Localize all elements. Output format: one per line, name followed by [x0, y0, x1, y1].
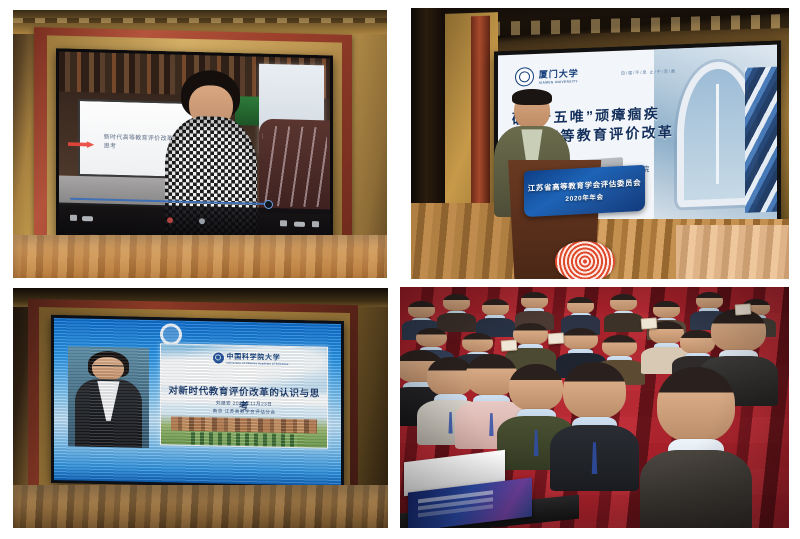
- audience-member: [482, 299, 509, 330]
- attendee-head: [680, 330, 715, 353]
- audience-member: [521, 292, 548, 323]
- subtitles-icon[interactable]: [82, 215, 93, 220]
- attendee-head: [563, 362, 625, 419]
- stage-floor-right: [676, 225, 789, 279]
- speaker-head: [514, 92, 550, 129]
- attendee-head: [513, 323, 548, 345]
- controls-left-group[interactable]: [70, 214, 93, 221]
- attendee-head: [482, 299, 509, 316]
- audience-member: [513, 323, 548, 364]
- audience-crowd: [400, 287, 789, 528]
- attendee-body: [604, 313, 643, 332]
- camera-icon[interactable]: [199, 218, 205, 224]
- attendee-head: [563, 328, 598, 350]
- audience-member: [443, 294, 470, 325]
- led-blue-backdrop: 中国科学院大学 University of Chinese Academy of…: [54, 318, 341, 486]
- wooden-stage-floor: [13, 485, 388, 528]
- university-seal-icon: [212, 352, 223, 363]
- video-call-feed: 新时代高等教育评价改革的 思考: [59, 51, 330, 240]
- attendee-head: [567, 297, 594, 314]
- attendee-head: [408, 301, 435, 318]
- attendee-head: [657, 367, 735, 442]
- led-screen: 新时代高等教育评价改革的 思考: [56, 48, 333, 243]
- remote-presenter-video-tile: [68, 346, 148, 448]
- rewind-icon[interactable]: [70, 214, 77, 220]
- more-options-icon[interactable]: [312, 221, 319, 227]
- university-name-en: XIAMEN UNIVERSITY: [539, 79, 579, 85]
- podium-sign: 江苏省高等教育学会评估委员会 2020年年会: [524, 165, 645, 217]
- seat-name-card: [501, 339, 518, 351]
- presenter-glasses-icon: [93, 364, 123, 371]
- attendee-head: [443, 294, 470, 311]
- photo-collage: 新时代高等教育评价改革的 思考: [0, 0, 800, 539]
- seat-name-card: [641, 318, 658, 330]
- wooden-stage-floor: [13, 235, 387, 278]
- audience-member: [567, 297, 594, 328]
- controls-center-group[interactable]: [167, 217, 205, 224]
- university-seal-icon: [515, 67, 534, 87]
- tr-scene: 厦门大学 XIAMEN UNIVERSITY 自/强/不/息 止/于/至/善 破…: [411, 8, 789, 279]
- br-scene: [400, 287, 789, 528]
- university-name: 厦门大学 XIAMEN UNIVERSITY: [539, 66, 579, 85]
- xiamen-university-logo: 厦门大学 XIAMEN UNIVERSITY: [515, 65, 579, 86]
- attendee-head: [509, 364, 563, 411]
- attendee-head: [610, 294, 637, 311]
- attendee-head: [416, 328, 447, 348]
- floor-emblem-icon: [555, 241, 615, 279]
- share-screen-icon[interactable]: [294, 221, 305, 226]
- university-name: 中国科学院大学 University of Chinese Academy of…: [226, 351, 288, 365]
- controls-right-group[interactable]: [280, 220, 319, 227]
- attendee-head: [602, 335, 637, 357]
- audience-member: [610, 294, 637, 325]
- photo-top-right-podium-speaker[interactable]: 厦门大学 XIAMEN UNIVERSITY 自/强/不/息 止/于/至/善 破…: [411, 8, 789, 279]
- attendee-body: [640, 450, 752, 528]
- photo-bottom-right-audience[interactable]: [400, 287, 789, 528]
- seat-name-card: [734, 303, 751, 315]
- attendee-head: [696, 292, 723, 309]
- video-control-bar[interactable]: [59, 202, 330, 240]
- shared-slide: 中国科学院大学 University of Chinese Academy of…: [160, 343, 328, 449]
- led-screen: 中国科学院大学 University of Chinese Academy of…: [51, 315, 344, 489]
- attendee-head: [462, 333, 493, 353]
- audience-member: [657, 367, 735, 507]
- audience-member: [563, 362, 625, 468]
- attendee-head: [653, 301, 680, 318]
- bl-scene: 中国科学院大学 University of Chinese Academy of…: [13, 288, 388, 528]
- attendee-head: [521, 292, 548, 309]
- photo-top-left-remote-keynote[interactable]: 新时代高等教育评价改革的 思考: [13, 10, 387, 278]
- podium-sign-line2: 2020年年会: [566, 191, 604, 203]
- tl-scene: 新时代高等教育评价改革的 思考: [13, 10, 387, 278]
- seat-name-card: [547, 332, 564, 344]
- pen-icon[interactable]: [280, 220, 287, 226]
- blue-stripe-graphic: [745, 66, 777, 213]
- photo-bottom-left-ucas-slide[interactable]: 中国科学院大学 University of Chinese Academy of…: [13, 288, 388, 528]
- ucas-logo: 中国科学院大学 University of Chinese Academy of…: [212, 351, 288, 366]
- campus-photo: [161, 414, 327, 448]
- microphone-icon[interactable]: [167, 217, 173, 223]
